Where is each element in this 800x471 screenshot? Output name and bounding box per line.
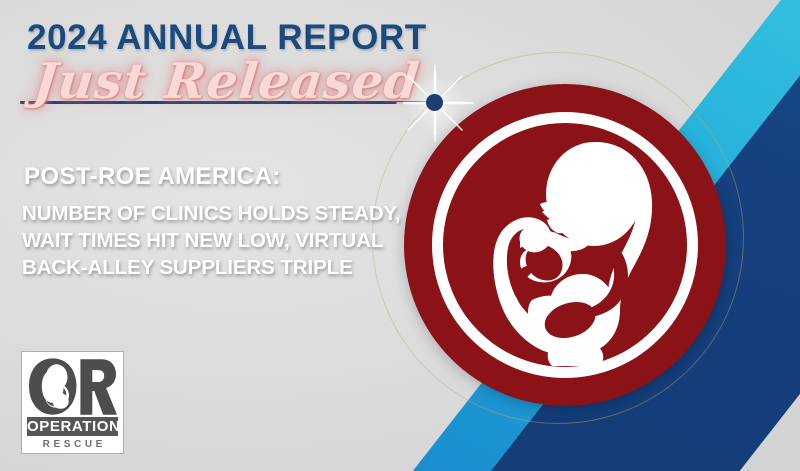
navy-dot-icon [426, 94, 443, 111]
logo-word-rescue: RESCUE [27, 438, 118, 452]
script-headline: Just Released [31, 52, 423, 110]
subtitle-line-1: NUMBER OF CLINICS HOLDS STEADY, [22, 202, 400, 226]
subtitle-line-2: WAIT TIMES HIT NEW LOW, VIRTUAL [22, 229, 383, 253]
fetus-silhouette-icon [444, 124, 686, 366]
subtitle-line-3: BACK-ALLEY SUPPLIERS TRIPLE [22, 256, 353, 280]
annual-report-poster: 2024 ANNUAL REPORT Just Released [0, 0, 800, 471]
operation-rescue-logo[interactable]: OPERATION RESCUE [21, 351, 124, 454]
or-monogram-icon [27, 357, 118, 417]
subtitle-heading: POST-ROE AMERICA: [24, 163, 281, 191]
logo-word-operation: OPERATION [27, 417, 118, 436]
